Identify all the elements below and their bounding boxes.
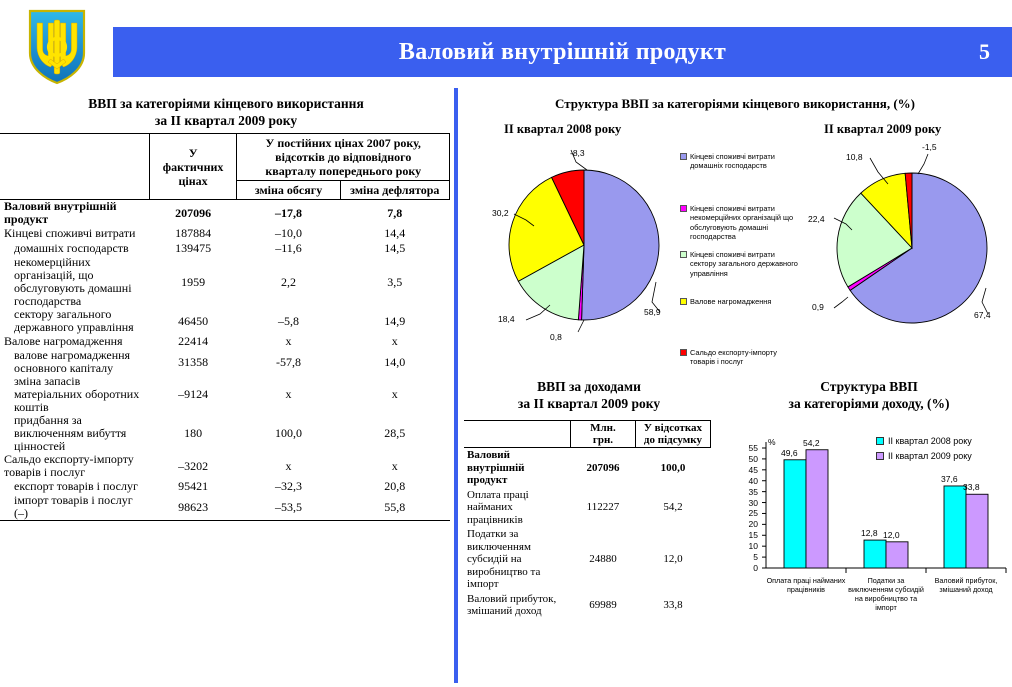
bar-title-line2: за категоріями доходу, (%) xyxy=(726,395,1012,412)
row-value-volume: –5,8 xyxy=(237,308,340,334)
pie-legend-item: Кінцеві споживчі витрати некомерційних о… xyxy=(680,204,798,242)
head-volume-change: зміна обсягу xyxy=(237,181,340,200)
income-row-pct: 33,8 xyxy=(635,592,710,619)
pie2009-label-nekomertsiynyh: 0,9 xyxy=(812,302,824,312)
income-head-mln: Млн. грн. xyxy=(571,421,636,448)
income-head-blank xyxy=(464,421,571,448)
legend-swatch-icon xyxy=(680,251,687,258)
table-row: валове нагромадження основного капіталу3… xyxy=(0,349,450,375)
bar-rect xyxy=(966,494,988,568)
row-label: придбання за виключенням вибуття цінност… xyxy=(0,414,149,453)
row-value-volume: 100,0 xyxy=(237,414,340,453)
row-value-mln: 207096 xyxy=(149,200,237,227)
bar-rect xyxy=(784,460,806,568)
bar-value-label: 37,6 xyxy=(941,474,958,484)
pie-legend-item: Кінцеві споживчі витрати домашніх господ… xyxy=(680,152,798,171)
row-value-mln: 180 xyxy=(149,414,237,453)
row-value-deflator: 3,5 xyxy=(340,256,449,308)
pie-leader-line xyxy=(578,320,584,332)
legend-label: Сальдо експорту-імпорту товарів і послуг xyxy=(690,348,798,367)
table-row: Кінцеві споживчі витрати187884–10,014,4 xyxy=(0,226,450,241)
row-value-deflator: 55,8 xyxy=(340,494,449,521)
row-value-deflator: 14,9 xyxy=(340,308,449,334)
y-tick-label: 20 xyxy=(740,519,758,529)
income-head-pct: У відсотках до підсумку xyxy=(635,421,710,448)
y-tick-label: 10 xyxy=(740,541,758,551)
pie-legend-item: Валове нагромадження xyxy=(680,297,798,306)
x-category-label: Оплата праці найманих працівників xyxy=(766,576,846,594)
left-table-title: ВВП за категоріями кінцевого використанн… xyxy=(0,95,452,129)
pie2008-label-saldo: -8,3 xyxy=(570,148,585,158)
row-value-mln: 95421 xyxy=(149,479,237,494)
row-value-volume: –10,0 xyxy=(237,226,340,241)
bar-value-label: 49,6 xyxy=(781,448,798,458)
head-ccp-l2: відсотків до відповідного xyxy=(241,150,445,164)
row-label: Сальдо експорту-імпорту товарів і послуг xyxy=(0,453,149,479)
row-value-deflator: 7,8 xyxy=(340,200,449,227)
row-label: некомерційних організацій, що обслуговую… xyxy=(0,256,149,308)
income-row-label: Оплата праці найманих працівників xyxy=(464,488,571,528)
bar-rect xyxy=(864,540,886,568)
bar-legend-swatch-icon xyxy=(876,437,884,445)
legend-label: Кінцеві споживчі витрати сектору загальн… xyxy=(690,250,798,278)
row-value-deflator: 14,0 xyxy=(340,349,449,375)
row-label: імпорт товарів і послуг (–) xyxy=(0,494,149,521)
row-label: експорт товарів і послуг xyxy=(0,479,149,494)
table-row: Оплата праці найманих працівників1122275… xyxy=(464,488,711,528)
page-title: Валовий внутрішній продукт xyxy=(113,27,1012,77)
ukraine-coat-of-arms-icon xyxy=(24,7,90,87)
income-row-label: Податки за виключенням субсидій на вироб… xyxy=(464,527,571,592)
income-row-mln: 24880 xyxy=(571,527,636,592)
pie-chart-2008: 30,2 -8,3 58,9 18,4 0,8 xyxy=(492,142,682,342)
row-value-mln: 187884 xyxy=(149,226,237,241)
left-table-title-line2: за ІІ квартал 2009 року xyxy=(0,112,452,129)
pie-legend-item: Кінцеві споживчі витрати сектору загальн… xyxy=(680,250,798,278)
head-deflator-change: зміна дефлятора xyxy=(340,181,449,200)
bar-value-label: 12,0 xyxy=(883,530,900,540)
table-row: домашніх господарств139475–11,614,5 xyxy=(0,241,450,256)
bar-chart-title: Структура ВВП за категоріями доходу, (%) xyxy=(726,378,1012,412)
table-row: некомерційних організацій, що обслуговую… xyxy=(0,256,450,308)
pie2008-label-nekomertsiynyh: 0,8 xyxy=(550,332,562,342)
pie2009-label-nagromadzhennya: 10,8 xyxy=(846,152,863,162)
row-value-deflator: 14,4 xyxy=(340,226,449,241)
pie-leader-line xyxy=(834,297,848,308)
y-tick-label: 55 xyxy=(740,443,758,453)
income-row-mln: 69989 xyxy=(571,592,636,619)
table-head: У фактичних цінах У постійних цінах 2007… xyxy=(0,134,450,200)
y-tick-label: 0 xyxy=(740,563,758,573)
income-head-pct-l2: до підсумку xyxy=(639,434,707,446)
table-body: Валовий внутрішній продукт207096–17,87,8… xyxy=(0,200,450,521)
pies-section-title: Структура ВВП за категоріями кінцевого в… xyxy=(458,96,1012,112)
table-row: Валовий прибуток, змішаний доход6998933,… xyxy=(464,592,711,619)
income-row-label: Валовий внутрішній продукт xyxy=(464,448,571,488)
left-table-title-line1: ВВП за категоріями кінцевого використанн… xyxy=(0,95,452,112)
y-tick-label: 25 xyxy=(740,508,758,518)
row-value-mln: 139475 xyxy=(149,241,237,256)
legend-swatch-icon xyxy=(680,349,687,356)
gdp-expenditure-table: У фактичних цінах У постійних цінах 2007… xyxy=(0,133,450,521)
pie-2008-caption: ІІ квартал 2008 року xyxy=(504,122,621,137)
income-row-mln: 207096 xyxy=(571,448,636,488)
row-value-mln: 98623 xyxy=(149,494,237,521)
income-head-mln-l1: Млн. xyxy=(574,422,632,434)
pie2008-label-domogospodarstv: 58,9 xyxy=(644,307,661,317)
pie2008-label-nagromadzhennya: 30,2 xyxy=(492,208,509,218)
row-label: сектору загального державного управління xyxy=(0,308,149,334)
slide-number: 5 xyxy=(979,39,990,65)
bar-rect xyxy=(806,450,828,568)
head-ccp-l1: У постійних цінах 2007 року, xyxy=(241,136,445,150)
bar-legend-label: ІІ квартал 2008 року xyxy=(888,436,972,446)
row-value-mln: –9124 xyxy=(149,375,237,414)
pie-leader-line xyxy=(918,154,928,174)
row-value-volume: х xyxy=(237,453,340,479)
gdp-income-table: Млн. грн. У відсотках до підсумку Валови… xyxy=(464,420,711,619)
income-row-label: Валовий прибуток, змішаний доход xyxy=(464,592,571,619)
bar-chart-canvas xyxy=(726,430,1012,680)
pie-slice xyxy=(582,170,659,320)
table-row: імпорт товарів і послуг (–)98623–53,555,… xyxy=(0,494,450,521)
row-value-mln: 31358 xyxy=(149,349,237,375)
right-panel: Структура ВВП за категоріями кінцевого в… xyxy=(458,90,1012,687)
pie2009-label-sektor: 22,4 xyxy=(808,214,825,224)
table-head-row-1: У фактичних цінах У постійних цінах 2007… xyxy=(0,134,450,181)
legend-swatch-icon xyxy=(680,205,687,212)
income-row-pct: 54,2 xyxy=(635,488,710,528)
x-category-label: Валовий прибуток, змішаний доход xyxy=(926,576,1006,594)
legend-label: Валове нагромадження xyxy=(690,297,771,306)
row-value-volume: –17,8 xyxy=(237,200,340,227)
row-value-mln: 1959 xyxy=(149,256,237,308)
table-row: Податки за виключенням субсидій на вироб… xyxy=(464,527,711,592)
left-panel: ВВП за категоріями кінцевого використанн… xyxy=(0,95,452,521)
table-row: Сальдо експорту-імпорту товарів і послуг… xyxy=(0,453,450,479)
income-row-pct: 100,0 xyxy=(635,448,710,488)
income-title-line1: ВВП за доходами xyxy=(464,378,714,395)
row-value-mln: 46450 xyxy=(149,308,237,334)
row-value-volume: –32,3 xyxy=(237,479,340,494)
head-current-prices: У фактичних цінах xyxy=(149,134,237,200)
row-value-mln: 22414 xyxy=(149,334,237,349)
table-row: експорт товарів і послуг95421–32,320,8 xyxy=(0,479,450,494)
row-label: Валове нагромадження xyxy=(0,334,149,349)
income-table-head: Млн. грн. У відсотках до підсумку xyxy=(464,421,711,448)
head-ccp-l3: кварталу попереднього року xyxy=(241,164,445,178)
bar-legend-item: ІІ квартал 2008 року xyxy=(876,436,972,446)
income-title-line2: за ІІ квартал 2009 року xyxy=(464,395,714,412)
gdp-income-bar-chart: 0510152025303540455055%49,654,2Оплата пр… xyxy=(726,430,1012,680)
bar-value-label: 54,2 xyxy=(803,438,820,448)
bar-title-line1: Структура ВВП xyxy=(726,378,1012,395)
legend-swatch-icon xyxy=(680,298,687,305)
table-row: Валовий внутрішній продукт207096100,0 xyxy=(464,448,711,488)
y-axis-unit-label: % xyxy=(768,437,776,447)
row-value-volume: –53,5 xyxy=(237,494,340,521)
y-tick-label: 35 xyxy=(740,487,758,497)
y-tick-label: 40 xyxy=(740,476,758,486)
row-label: валове нагромадження основного капіталу xyxy=(0,349,149,375)
legend-swatch-icon xyxy=(680,153,687,160)
bar-value-label: 33,8 xyxy=(963,482,980,492)
bar-legend-item: ІІ квартал 2009 року xyxy=(876,451,972,461)
bar-rect xyxy=(886,542,908,568)
row-value-deflator: 14,5 xyxy=(340,241,449,256)
slide-header-band: Валовий внутрішній продукт 5 xyxy=(113,27,1012,77)
pie2008-label-sektor: 18,4 xyxy=(498,314,515,324)
head-blank xyxy=(0,134,149,200)
pie2009-label-domogospodarstv: 67,4 xyxy=(974,310,991,320)
row-value-volume: х xyxy=(237,375,340,414)
bar-rect xyxy=(944,486,966,568)
income-table-body: Валовий внутрішній продукт207096100,0Опл… xyxy=(464,448,711,619)
income-row-pct: 12,0 xyxy=(635,527,710,592)
pie-legend-item: Сальдо експорту-імпорту товарів і послуг xyxy=(680,348,798,367)
table-row: сектору загального державного управління… xyxy=(0,308,450,334)
row-label: зміна запасів матеріальних оборотних кош… xyxy=(0,375,149,414)
pie-chart-2009: 10,8 -1,5 22,4 0,9 67,4 xyxy=(808,142,1008,342)
table-row: придбання за виключенням вибуття цінност… xyxy=(0,414,450,453)
bar-value-label: 12,8 xyxy=(861,528,878,538)
bar-legend-swatch-icon xyxy=(876,452,884,460)
table-row: зміна запасів матеріальних оборотних кош… xyxy=(0,375,450,414)
y-tick-label: 50 xyxy=(740,454,758,464)
y-tick-label: 45 xyxy=(740,465,758,475)
income-head-row: Млн. грн. У відсотках до підсумку xyxy=(464,421,711,448)
head-cp-l3: цінах xyxy=(154,174,233,188)
pie2009-label-saldo: -1,5 xyxy=(922,142,937,152)
pie-2009-caption: ІІ квартал 2009 року xyxy=(824,122,941,137)
x-category-label: Податки за виключенням субсидій на вироб… xyxy=(846,576,926,612)
row-value-deflator: 20,8 xyxy=(340,479,449,494)
row-label: Валовий внутрішній продукт xyxy=(0,200,149,227)
row-value-mln: –3202 xyxy=(149,453,237,479)
head-cp-l2: фактичних xyxy=(154,160,233,174)
y-tick-label: 5 xyxy=(740,552,758,562)
table-row: Валове нагромадження22414хх xyxy=(0,334,450,349)
row-value-volume: -57,8 xyxy=(237,349,340,375)
row-value-volume: х xyxy=(237,334,340,349)
bar-legend-label: ІІ квартал 2009 року xyxy=(888,451,972,461)
row-value-deflator: 28,5 xyxy=(340,414,449,453)
row-label: домашніх господарств xyxy=(0,241,149,256)
row-label: Кінцеві споживчі витрати xyxy=(0,226,149,241)
income-row-mln: 112227 xyxy=(571,488,636,528)
income-table-title: ВВП за доходами за ІІ квартал 2009 року xyxy=(464,378,714,412)
row-value-deflator: х xyxy=(340,334,449,349)
row-value-deflator: х xyxy=(340,375,449,414)
y-tick-label: 30 xyxy=(740,498,758,508)
y-tick-label: 15 xyxy=(740,530,758,540)
head-constant-prices-group: У постійних цінах 2007 року, відсотків д… xyxy=(237,134,450,181)
income-head-pct-l1: У відсотках xyxy=(639,422,707,434)
legend-label: Кінцеві споживчі витрати некомерційних о… xyxy=(690,204,798,242)
table-row: Валовий внутрішній продукт207096–17,87,8 xyxy=(0,200,450,227)
legend-label: Кінцеві споживчі витрати домашніх господ… xyxy=(690,152,798,171)
row-value-deflator: х xyxy=(340,453,449,479)
income-head-mln-l2: грн. xyxy=(574,434,632,446)
row-value-volume: –11,6 xyxy=(237,241,340,256)
row-value-volume: 2,2 xyxy=(237,256,340,308)
head-cp-l1: У xyxy=(154,146,233,160)
